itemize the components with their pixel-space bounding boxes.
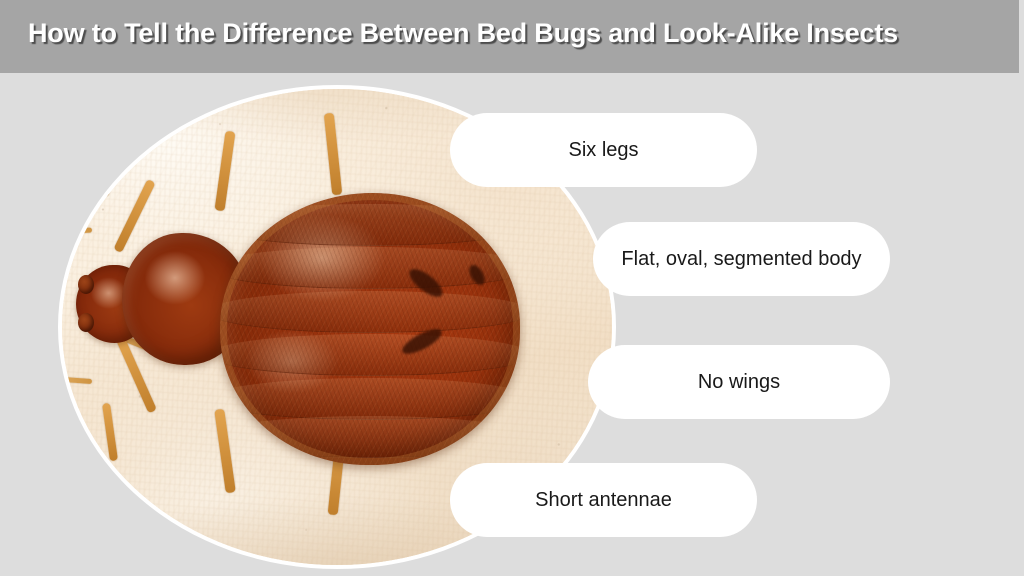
eye-lower [78, 313, 94, 332]
feature-label-short-antennae[interactable]: Short antennae [450, 463, 757, 537]
feature-label-six-legs[interactable]: Six legs [450, 113, 757, 187]
feature-label-text: No wings [698, 372, 780, 392]
abdomen-fringe [220, 193, 520, 465]
bed-bug-abdomen [220, 193, 520, 465]
feature-label-text: Six legs [568, 140, 638, 160]
feature-label-text: Flat, oval, segmented body [621, 249, 861, 269]
feature-label-body[interactable]: Flat, oval, segmented body [593, 222, 890, 296]
leg-front-lower-tarsus [102, 403, 118, 462]
feature-label-no-wings[interactable]: No wings [588, 345, 890, 419]
leg-front-upper [113, 179, 155, 253]
page-title: How to Tell the Difference Between Bed B… [28, 18, 898, 49]
eye-upper [78, 275, 94, 294]
feature-label-text: Short antennae [535, 490, 672, 510]
header-bar: How to Tell the Difference Between Bed B… [0, 0, 1019, 73]
